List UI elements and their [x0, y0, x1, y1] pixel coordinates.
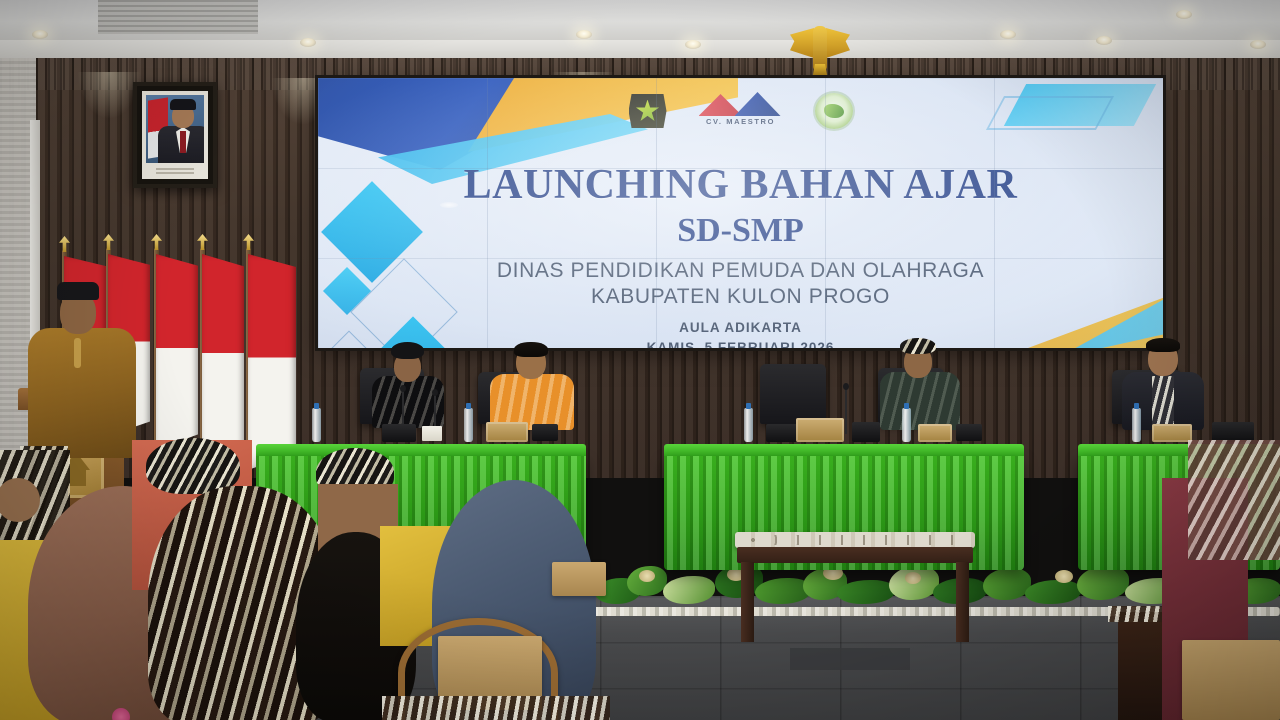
ceiling-spotlight	[32, 30, 48, 39]
speaker-torso	[28, 328, 136, 458]
audience-member-patterned-right	[1188, 440, 1280, 560]
garuda-body	[813, 26, 827, 70]
blangkon-headwear	[900, 338, 936, 354]
black-peci	[57, 282, 99, 300]
document-paper	[422, 426, 442, 441]
black-equipment-case	[956, 424, 982, 441]
black-equipment-case	[532, 424, 558, 441]
black-equipment-case	[852, 422, 880, 442]
official-torso	[880, 372, 960, 430]
flag-cloth	[156, 254, 198, 450]
foreground-audience	[0, 440, 1280, 720]
chair-back	[760, 364, 826, 424]
portrait-caption	[146, 166, 204, 178]
water-bottle	[1132, 408, 1141, 442]
ceiling-spotlight	[1250, 40, 1266, 49]
official-orange-batik	[490, 340, 574, 428]
ceiling-spotlight	[685, 40, 701, 49]
microphone	[845, 388, 847, 434]
water-bottle	[902, 408, 911, 442]
ceiling-air-vent	[98, 0, 258, 34]
water-bottle	[744, 408, 753, 442]
light-glow	[78, 72, 140, 118]
official-shirt	[1152, 376, 1174, 426]
official-hair	[1146, 338, 1180, 352]
ceiling-spotlight	[1000, 30, 1016, 39]
portrait-subject-tie	[180, 131, 186, 153]
water-bottle	[312, 408, 321, 442]
garuda-pancasila-emblem	[790, 24, 850, 80]
black-equipment-case	[1212, 422, 1254, 442]
official-hair	[514, 342, 548, 357]
led-panel-seams	[318, 78, 1163, 348]
portrait-subject-peci	[170, 99, 196, 110]
wooden-nameplate	[486, 422, 528, 442]
garuda-wing-left	[790, 28, 814, 58]
ceiling-spotlight	[1176, 10, 1192, 19]
speaker-necklace	[74, 338, 81, 368]
official-green-batik-blangkon	[880, 338, 960, 428]
ceiling-spotlight	[300, 38, 316, 47]
wooden-nameplate	[796, 418, 844, 442]
conference-hall-photo: CV. MAESTRO LAUNCHING BAHAN AJAR SD-SMP …	[0, 0, 1280, 720]
cardboard-box	[1182, 640, 1280, 720]
cardboard-box	[552, 562, 606, 596]
black-peci	[391, 342, 424, 359]
hijab-pin	[112, 708, 130, 720]
water-bottle	[464, 408, 473, 442]
official-presidential-portrait	[133, 82, 217, 188]
garuda-wing-right	[826, 28, 850, 58]
led-video-wall[interactable]: CV. MAESTRO LAUNCHING BAHAN AJAR SD-SMP …	[318, 78, 1163, 348]
portrait-photo	[146, 95, 204, 163]
ceiling-spotlight	[576, 30, 592, 39]
ceiling-spotlight	[1096, 36, 1112, 45]
batik-table-runner	[382, 696, 610, 720]
